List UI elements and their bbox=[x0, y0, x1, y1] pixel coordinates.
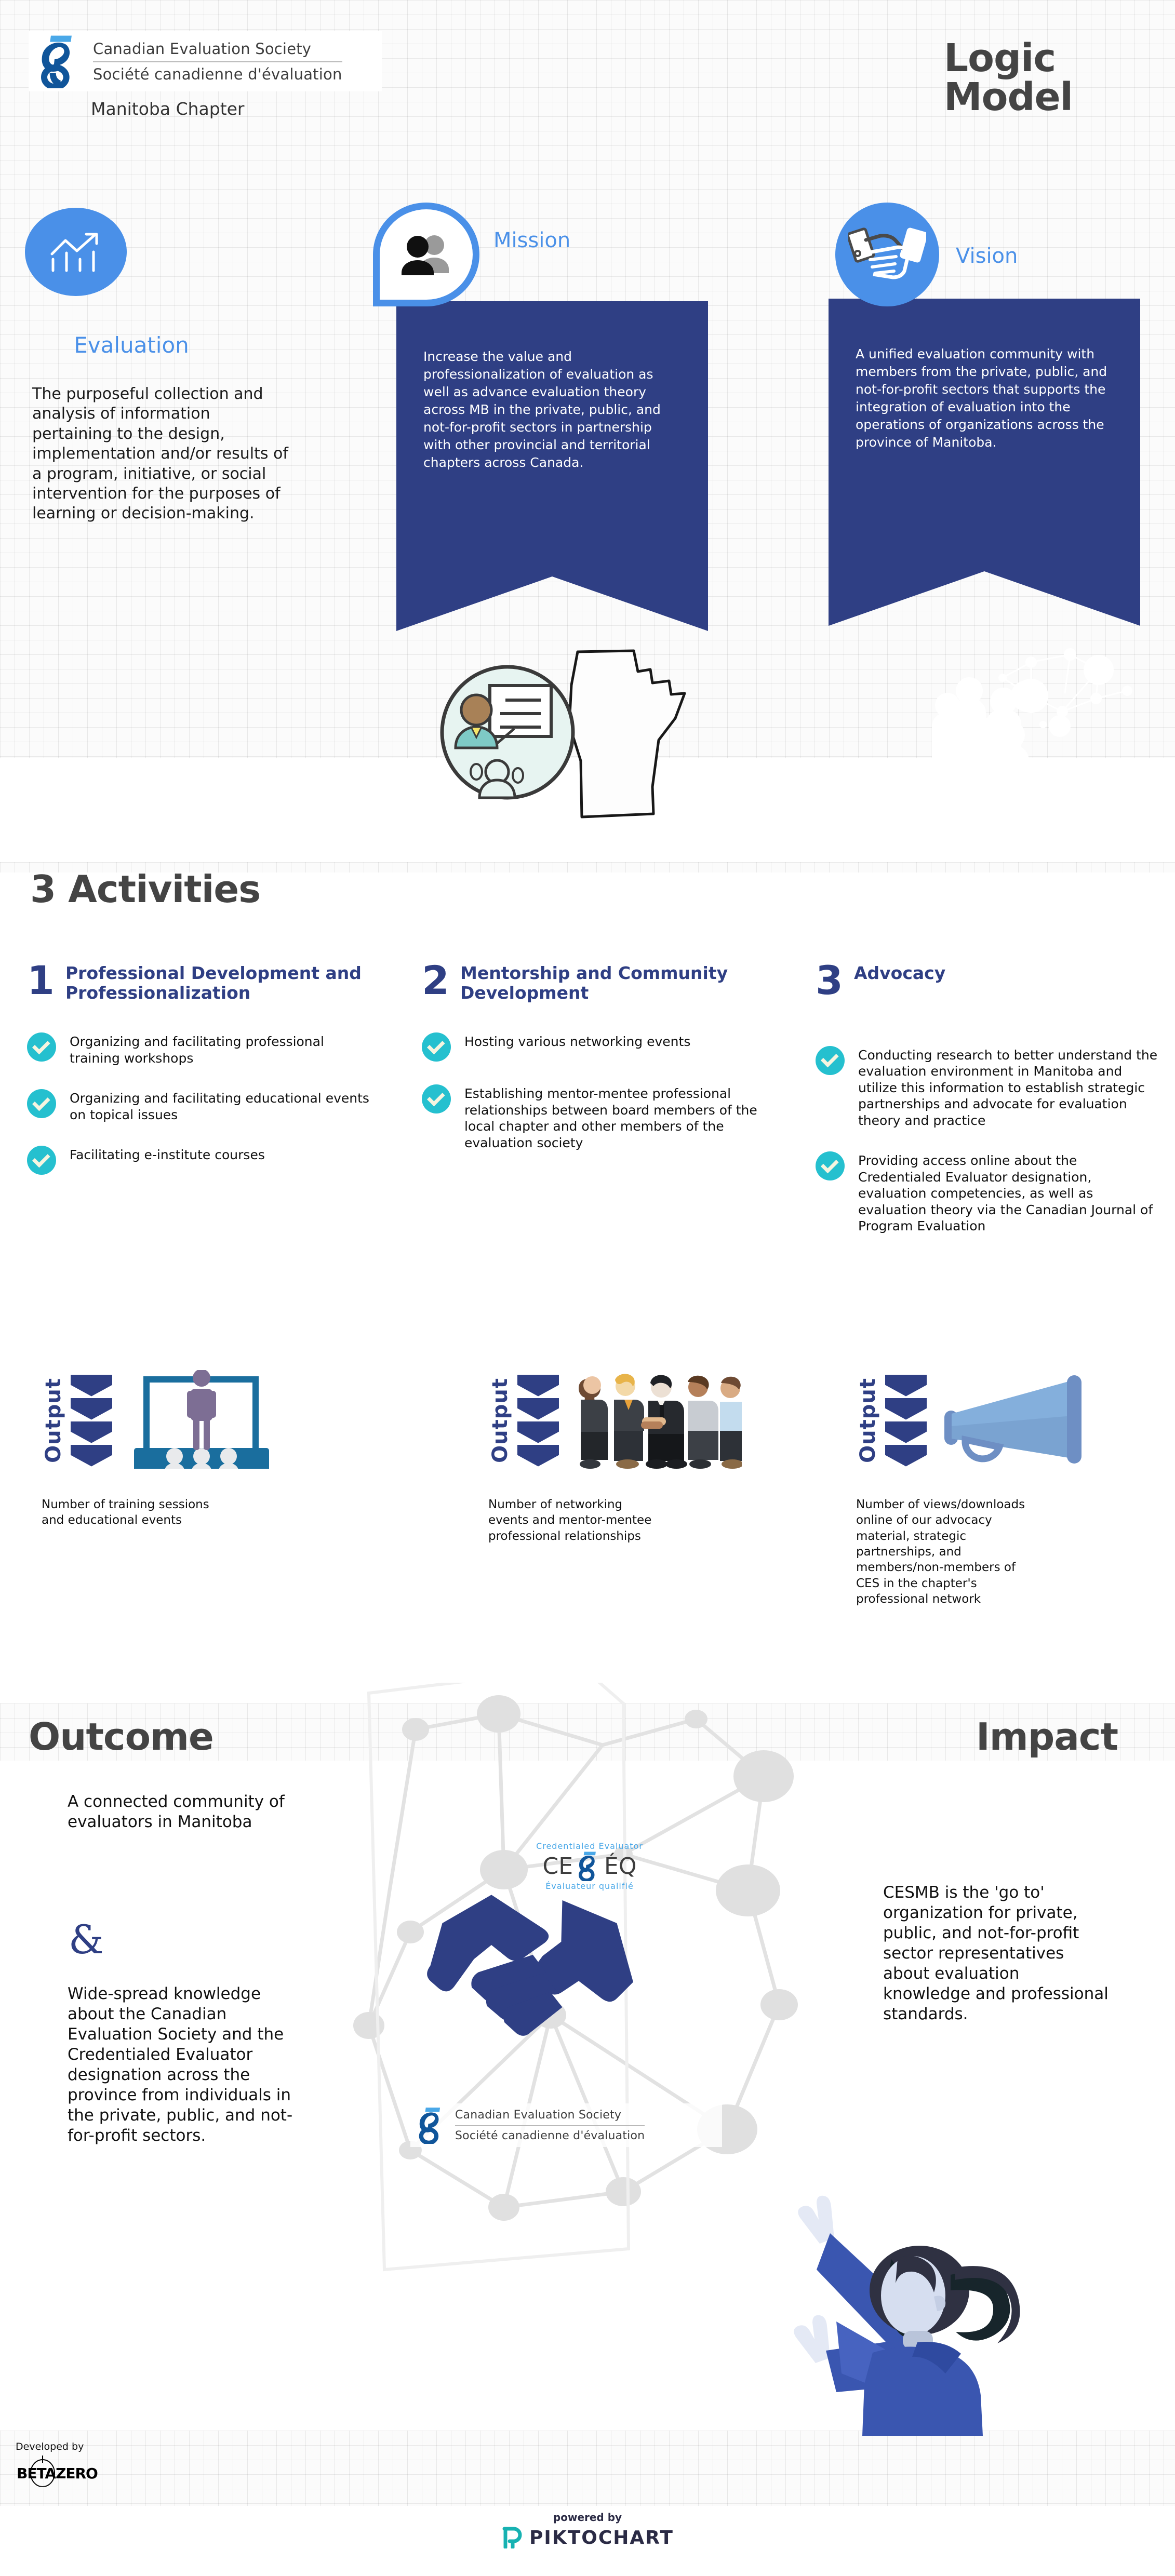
waving-woman-illustration bbox=[790, 2166, 1029, 2436]
vision-text: A unified evaluation community with memb… bbox=[829, 299, 1140, 571]
activity-column-3: 3 Advocacy Conducting research to better… bbox=[816, 963, 1158, 1257]
check-icon bbox=[422, 1084, 451, 1113]
ces-emblem-icon bbox=[575, 1851, 602, 1881]
activity-column-2: 2 Mentorship and Community Development H… bbox=[422, 963, 765, 1174]
ces-emblem-icon bbox=[415, 2107, 448, 2144]
seal-bottom-arc-text: Évaluateur qualifié bbox=[527, 1881, 652, 1891]
ces-logo-outcome: Canadian Evaluation Society Société cana… bbox=[410, 2103, 722, 2147]
network-community-illustration bbox=[925, 628, 1143, 800]
developed-by-label: Developed by bbox=[16, 2441, 99, 2452]
mission-label: Mission bbox=[493, 229, 570, 252]
output-row-1: Output bbox=[42, 1356, 374, 1485]
check-icon bbox=[422, 1032, 451, 1062]
ces-logo-header: Canadian Evaluation Society Société cana… bbox=[29, 31, 382, 91]
chevron-down-icon bbox=[885, 1375, 927, 1467]
powered-by-label: powered by bbox=[0, 2511, 1175, 2524]
chapter-label: Manitoba Chapter bbox=[91, 99, 245, 119]
list-item: Hosting various networking events bbox=[422, 1032, 765, 1062]
activity-item-text: Organizing and facilitating professional… bbox=[70, 1032, 370, 1066]
mission-icon-badge bbox=[373, 203, 479, 306]
output-row-2: Output bbox=[488, 1356, 821, 1485]
seal-ce-text: CE bbox=[543, 1853, 573, 1880]
activity-item-text: Organizing and facilitating educational … bbox=[70, 1089, 370, 1123]
piktochart-wordmark: PIKTOCHART bbox=[529, 2527, 674, 2548]
output-block-3: Output Number of views/downloads online … bbox=[856, 1356, 1175, 1607]
evaluation-icon-circle bbox=[25, 208, 127, 296]
piktochart-footer: powered by PIKTOCHART bbox=[0, 2511, 1175, 2548]
list-item: Establishing mentor-mentee professional … bbox=[422, 1084, 765, 1151]
ces-logo-divider bbox=[455, 2125, 645, 2126]
list-item: Organizing and facilitating educational … bbox=[27, 1089, 370, 1123]
list-item: Organizing and facilitating professional… bbox=[27, 1032, 370, 1066]
vision-icon-badge bbox=[835, 203, 939, 306]
outcome-text-primary: A connected community of evaluators in M… bbox=[68, 1792, 286, 1832]
ces-logo-divider bbox=[93, 61, 342, 62]
mission-banner-tail bbox=[396, 576, 708, 631]
background-grid-footer bbox=[0, 2431, 1175, 2506]
activity-header-3: 3 Advocacy bbox=[816, 963, 1158, 998]
list-item: Facilitating e-institute courses bbox=[27, 1146, 370, 1175]
piktochart-logo-icon bbox=[501, 2527, 522, 2548]
networking-people-illustration bbox=[570, 1367, 821, 1473]
check-icon bbox=[816, 1151, 845, 1180]
activity-header-1: 1 Professional Development and Professio… bbox=[27, 963, 370, 1002]
activity-title-1: Professional Development and Professiona… bbox=[65, 963, 370, 1002]
chevron-down-icon bbox=[517, 1375, 559, 1467]
chevron-down-icon bbox=[71, 1375, 112, 1467]
presentation-illustration bbox=[439, 664, 577, 801]
activity-item-text: Providing access online about the Creden… bbox=[858, 1151, 1158, 1235]
check-icon bbox=[27, 1089, 56, 1118]
outcome-text-secondary: Wide-spread knowledge about the Canadian… bbox=[68, 1984, 296, 2146]
betazero-logo: BETAZERO bbox=[16, 2454, 99, 2487]
output-caption-2: Number of networking events and mentor-m… bbox=[488, 1497, 660, 1544]
activity-number-2: 2 bbox=[422, 963, 460, 998]
activity-items-3: Conducting research to better understand… bbox=[816, 1046, 1158, 1235]
network-handshake-illustration bbox=[332, 1683, 800, 2332]
output-block-2: Output bbox=[488, 1356, 821, 1544]
impact-text: CESMB is the 'go to' organization for pr… bbox=[883, 1883, 1112, 2024]
output-label-3: Output bbox=[856, 1378, 880, 1463]
activity-number-3: 3 bbox=[816, 963, 854, 998]
advocacy-megaphone-illustration bbox=[938, 1370, 1175, 1471]
impact-heading: Impact bbox=[976, 1715, 1118, 1759]
page-title: Logic Model bbox=[944, 39, 1115, 117]
output-label-2: Output bbox=[488, 1378, 512, 1463]
activity-item-text: Establishing mentor-mentee professional … bbox=[464, 1084, 765, 1151]
developed-by-block: Developed by BETAZERO bbox=[16, 2441, 99, 2487]
output-caption-1: Number of training sessions and educatio… bbox=[42, 1497, 213, 1528]
activity-item-text: Conducting research to better understand… bbox=[858, 1046, 1158, 1129]
growth-chart-icon bbox=[45, 227, 107, 277]
seal-eq-text: ÉQ bbox=[604, 1853, 636, 1880]
ces-name-french: Société canadienne d'évaluation bbox=[455, 2129, 645, 2142]
megaphone-icon bbox=[938, 1370, 1094, 1469]
evaluation-label: Evaluation bbox=[28, 332, 235, 358]
activity-items-2: Hosting various networking events Establ… bbox=[422, 1032, 765, 1151]
list-item: Conducting research to better understand… bbox=[816, 1046, 1158, 1129]
activities-heading: 3 Activities bbox=[30, 867, 260, 911]
people-group-icon bbox=[398, 234, 455, 275]
business-people-icon bbox=[570, 1367, 742, 1471]
vision-banner-tail bbox=[829, 571, 1140, 626]
check-icon bbox=[27, 1032, 56, 1062]
training-session-illustration bbox=[124, 1370, 374, 1471]
outcome-ampersand: & bbox=[69, 1916, 104, 1963]
ces-name-english: Canadian Evaluation Society bbox=[93, 40, 342, 58]
ces-name-french: Société canadienne d'évaluation bbox=[93, 65, 342, 83]
activity-column-1: 1 Professional Development and Professio… bbox=[27, 963, 370, 1198]
seal-top-arc-text: Credentialed Evaluator bbox=[527, 1841, 652, 1851]
check-icon bbox=[816, 1046, 845, 1075]
betazero-wordmark: BETAZERO bbox=[17, 2465, 98, 2482]
credentialed-evaluator-seal: Credentialed Evaluator CE ÉQ Évaluateur … bbox=[527, 1841, 652, 1891]
vision-label: Vision bbox=[956, 244, 1018, 268]
page-title-line-2: Model bbox=[944, 78, 1115, 117]
activity-title-3: Advocacy bbox=[854, 963, 945, 983]
output-block-1: Output bbox=[42, 1356, 374, 1528]
outcome-heading: Outcome bbox=[29, 1715, 213, 1759]
seal-main-text: CE ÉQ bbox=[527, 1851, 652, 1881]
activity-title-2: Mentorship and Community Development bbox=[460, 963, 765, 1002]
ces-name-english: Canadian Evaluation Society bbox=[455, 2109, 645, 2122]
presentation-screen-icon bbox=[124, 1370, 279, 1469]
activity-item-text: Hosting various networking events bbox=[464, 1032, 690, 1050]
piktochart-brand: PIKTOCHART bbox=[0, 2527, 1175, 2548]
page-title-line-1: Logic bbox=[944, 39, 1115, 78]
output-row-3: Output bbox=[856, 1356, 1175, 1485]
mission-text: Increase the value and professionalizati… bbox=[396, 301, 708, 576]
activity-number-1: 1 bbox=[27, 963, 65, 998]
handshake-icon bbox=[848, 223, 926, 286]
check-icon bbox=[27, 1146, 56, 1175]
evaluation-description: The purposeful collection and analysis o… bbox=[32, 384, 292, 524]
ces-emblem-icon bbox=[34, 34, 84, 88]
vision-banner: A unified evaluation community with memb… bbox=[829, 299, 1140, 626]
output-caption-3: Number of views/downloads online of our … bbox=[856, 1497, 1038, 1607]
output-label-1: Output bbox=[42, 1378, 65, 1463]
activity-items-1: Organizing and facilitating professional… bbox=[27, 1032, 370, 1175]
activity-header-2: 2 Mentorship and Community Development bbox=[422, 963, 765, 1002]
list-item: Providing access online about the Creden… bbox=[816, 1151, 1158, 1235]
activity-item-text: Facilitating e-institute courses bbox=[70, 1146, 265, 1163]
mission-banner: Increase the value and professionalizati… bbox=[396, 301, 708, 631]
